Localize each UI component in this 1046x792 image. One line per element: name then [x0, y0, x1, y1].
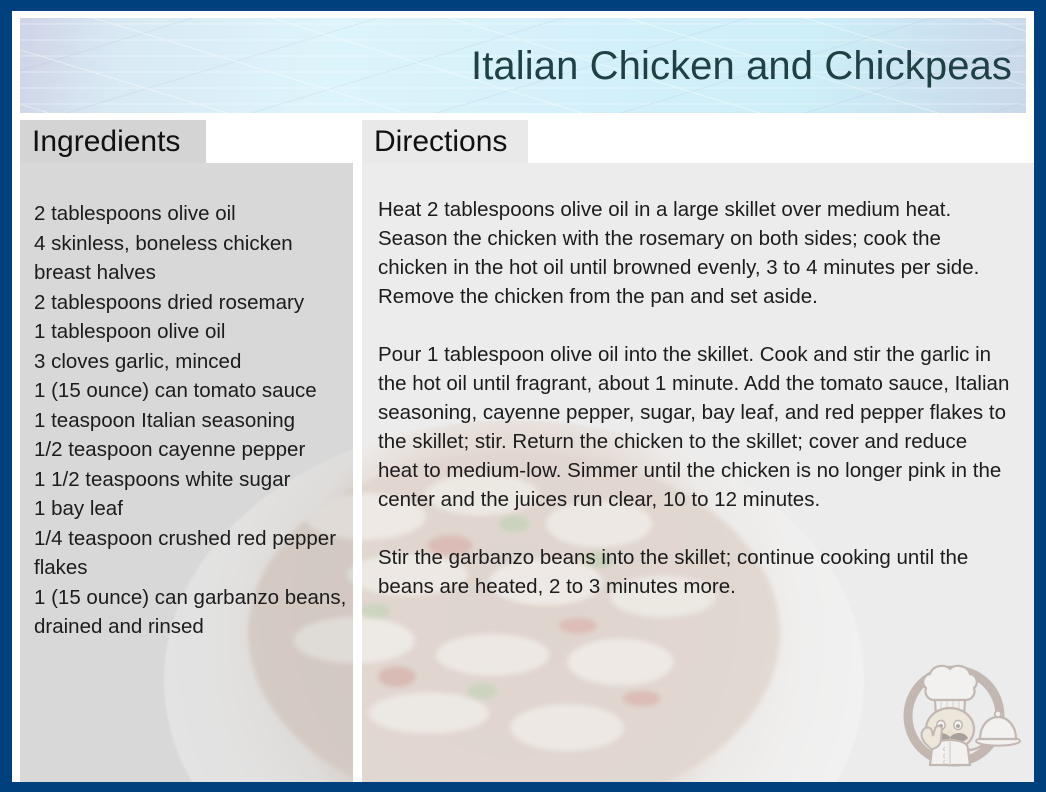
title-banner: Italian Chicken and Chickpeas [20, 18, 1026, 113]
directions-heading: Directions [362, 127, 521, 157]
ingredients-tab: Ingredients [20, 120, 206, 163]
ingredient-item: 1 tablespoon olive oil [34, 317, 350, 347]
ingredients-panel: 2 tablespoons olive oil4 skinless, bonel… [20, 163, 361, 782]
ingredient-item: 3 cloves garlic, minced [34, 347, 350, 377]
direction-step: Stir the garbanzo beans into the skillet… [378, 543, 1012, 601]
page-title: Italian Chicken and Chickpeas [471, 45, 1012, 87]
ingredient-item: 1/2 teaspoon cayenne pepper [34, 435, 350, 465]
panel-divider [353, 120, 362, 782]
direction-step: Pour 1 tablespoon olive oil into the ski… [378, 340, 1012, 514]
ingredient-item: 1 1/2 teaspoons white sugar [34, 465, 350, 495]
card-sheet: Italian Chicken and Chickpeas Ingredient… [12, 11, 1034, 782]
recipe-card: Italian Chicken and Chickpeas Ingredient… [0, 0, 1046, 792]
ingredient-item: 2 tablespoons olive oil [34, 199, 350, 229]
ingredient-item: 2 tablespoons dried rosemary [34, 288, 350, 318]
directions-steps: Heat 2 tablespoons olive oil in a large … [362, 163, 1034, 601]
directions-content: Heat 2 tablespoons olive oil in a large … [362, 163, 1034, 601]
panels-region: Ingredients Directions 2 tablespoons oli… [12, 120, 1034, 782]
directions-tab: Directions [362, 120, 528, 163]
directions-panel: Heat 2 tablespoons olive oil in a large … [362, 163, 1034, 782]
direction-step: Heat 2 tablespoons olive oil in a large … [378, 195, 1012, 311]
ingredients-heading: Ingredients [20, 127, 194, 157]
ingredient-item: 4 skinless, boneless chicken breast halv… [34, 229, 350, 288]
ingredient-item: 1 teaspoon Italian seasoning [34, 406, 350, 436]
ingredient-item: 1 (15 ounce) can garbanzo beans, drained… [34, 583, 350, 642]
ingredients-content: 2 tablespoons olive oil4 skinless, bonel… [20, 163, 361, 642]
ingredient-item: 1 bay leaf [34, 494, 350, 524]
ingredients-list: 2 tablespoons olive oil4 skinless, bonel… [20, 163, 350, 642]
ingredient-item: 1/4 teaspoon crushed red pepper flakes [34, 524, 350, 583]
ingredient-item: 1 (15 ounce) can tomato sauce [34, 376, 350, 406]
